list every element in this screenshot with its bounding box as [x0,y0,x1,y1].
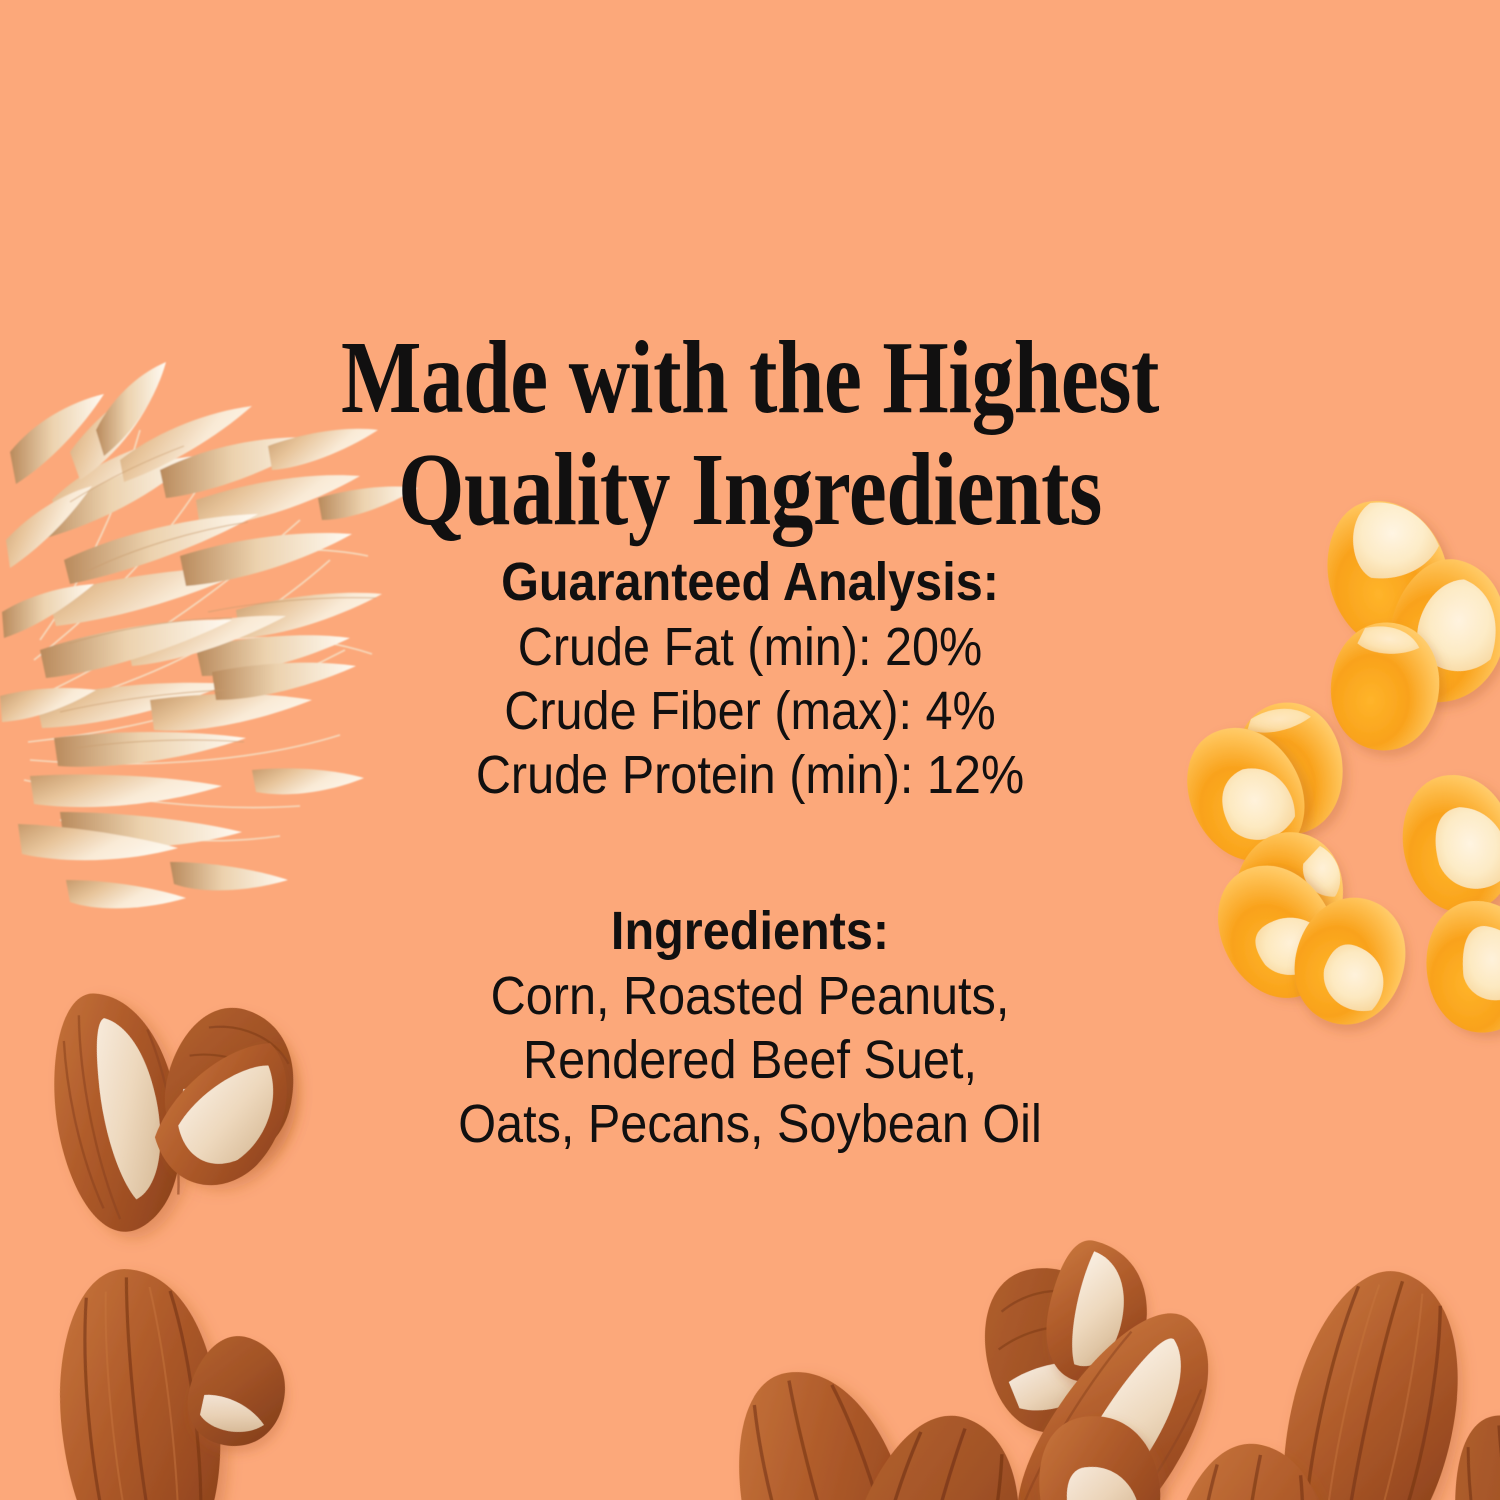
guaranteed-analysis-section: Guaranteed Analysis: Crude Fat (min): 20… [0,551,1500,807]
text-content-layer: Made with the Highest Quality Ingredient… [0,0,1500,1500]
ingredients-heading: Ingredients: [75,900,1425,964]
product-ingredients-poster: Made with the Highest Quality Ingredient… [0,0,1500,1500]
analysis-row-crude-fiber: Crude Fiber (max): 4% [75,679,1425,743]
page-title-line-1: Made with the Highest [135,322,1365,434]
page-title-line-2: Quality Ingredients [135,434,1365,546]
ingredients-line-1: Corn, Roasted Peanuts, [75,964,1425,1028]
ingredients-section: Ingredients: Corn, Roasted Peanuts, Rend… [0,900,1500,1156]
ingredients-line-3: Oats, Pecans, Soybean Oil [75,1092,1425,1156]
analysis-row-crude-protein: Crude Protein (min): 12% [75,743,1425,807]
ingredients-line-2: Rendered Beef Suet, [75,1028,1425,1092]
guaranteed-analysis-heading: Guaranteed Analysis: [75,551,1425,615]
page-title: Made with the Highest Quality Ingredient… [135,322,1365,547]
analysis-row-crude-fat: Crude Fat (min): 20% [75,615,1425,679]
